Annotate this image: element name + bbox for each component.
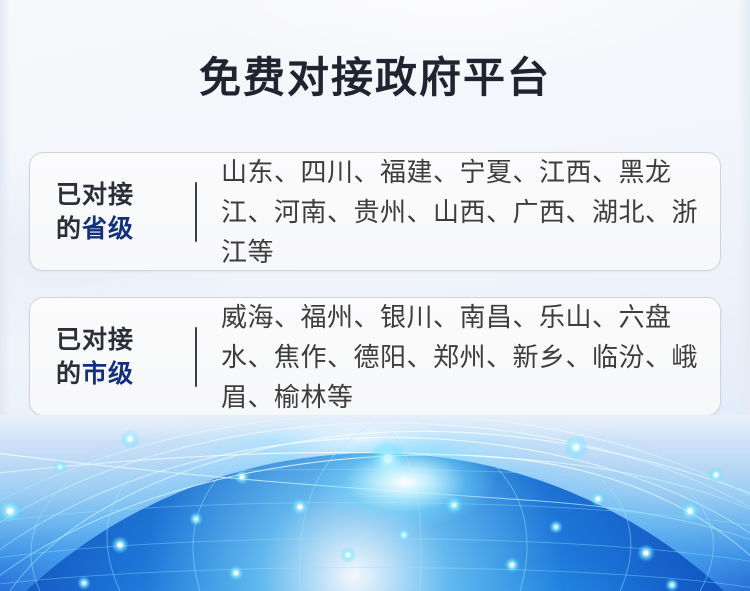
card-city-content: 威海、福州、银川、南昌、乐山、六盘水、焦作、德阳、郑州、新乡、临汾、峨眉、榆林等 [221, 297, 702, 417]
card-city-label-line1: 已对接 [56, 323, 168, 357]
card-province-content: 山东、四川、福建、宁夏、江西、黑龙江、河南、贵州、山西、广西、湖北、浙江等 [221, 152, 702, 272]
card-province-level: 已对接 的省级 山东、四川、福建、宁夏、江西、黑龙江、河南、贵州、山西、广西、湖… [29, 152, 721, 271]
card-city-label: 已对接 的市级 [56, 323, 168, 391]
card-province-label: 已对接 的省级 [56, 178, 168, 246]
page-title: 免费对接政府平台 [0, 52, 750, 104]
card-province-divider [195, 182, 197, 242]
card-city-level: 已对接 的市级 威海、福州、银川、南昌、乐山、六盘水、焦作、德阳、郑州、新乡、临… [29, 297, 721, 416]
globe-network-lines [0, 415, 750, 591]
card-city-label-accent: 市级 [82, 360, 134, 388]
globe-network-graphic [0, 415, 750, 591]
poster-root: 免费对接政府平台 已对接 的省级 山东、四川、福建、宁夏、江西、黑龙江、河南、贵… [0, 0, 750, 591]
card-province-label-prefix: 的 [56, 215, 82, 243]
card-city-divider [195, 327, 197, 387]
card-province-label-line2: 的省级 [56, 212, 168, 246]
card-province-label-accent: 省级 [82, 215, 134, 243]
card-city-label-prefix: 的 [56, 360, 82, 388]
card-city-label-line2: 的市级 [56, 357, 168, 391]
card-province-label-line1: 已对接 [56, 178, 168, 212]
